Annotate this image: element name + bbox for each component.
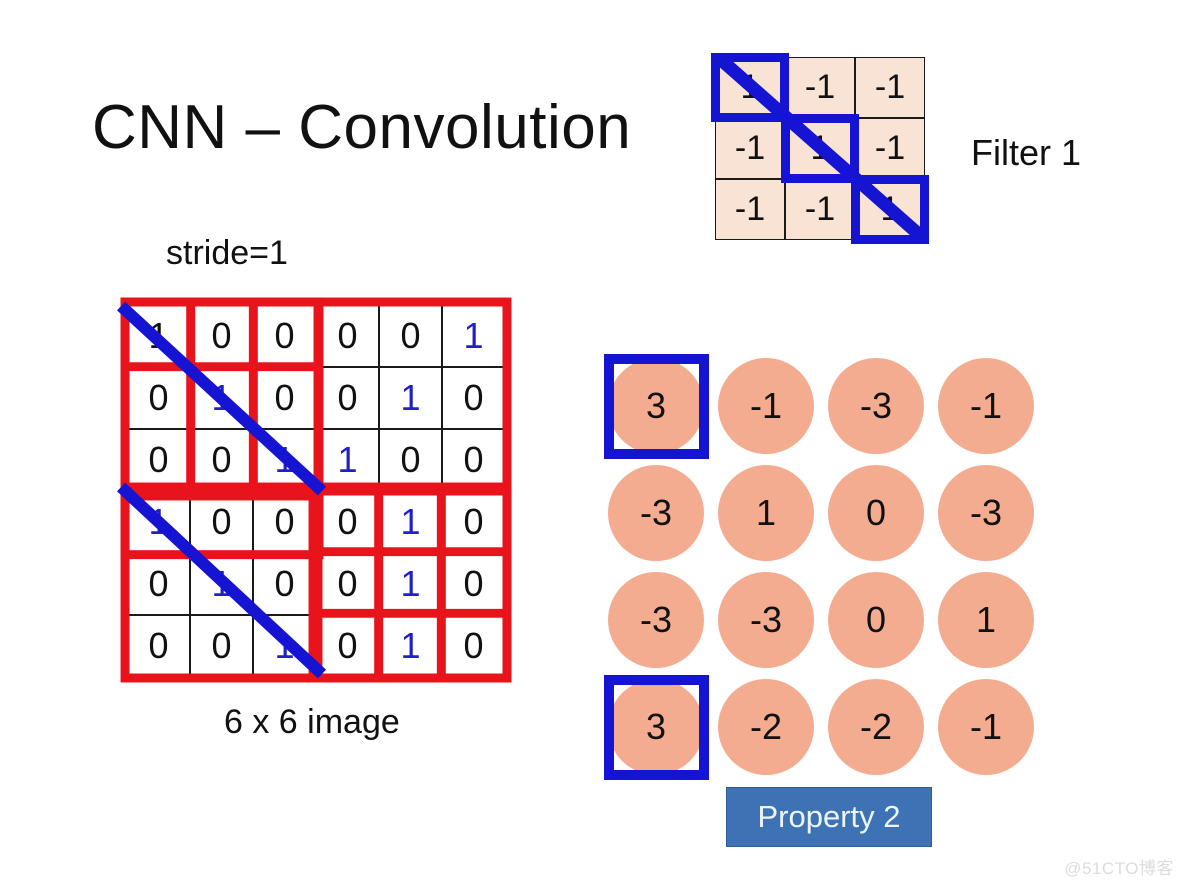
image-cell: 0 (253, 553, 316, 615)
filter-cell: 1 (715, 57, 785, 118)
feature-map-cell: 3 (606, 356, 706, 456)
stride-label: stride=1 (166, 234, 288, 273)
feature-map-cell: -3 (936, 463, 1036, 563)
feature-dot: 1 (718, 465, 814, 561)
image-cell: 0 (190, 429, 253, 491)
feature-map-cell: -1 (716, 356, 816, 456)
image-cell: 1 (253, 429, 316, 491)
image-cell: 1 (253, 615, 316, 677)
image-cell: 1 (379, 491, 442, 553)
feature-dot: -3 (938, 465, 1034, 561)
filter-cell: -1 (855, 57, 925, 118)
filter-cell: -1 (715, 118, 785, 179)
feature-map-cell: 3 (606, 677, 706, 777)
page-title: CNN – Convolution (92, 92, 631, 163)
image-cell: 0 (190, 615, 253, 677)
image-cell: 0 (316, 367, 379, 429)
feature-map-cell: -3 (716, 570, 816, 670)
feature-map-cell: -1 (936, 356, 1036, 456)
image-cell: 1 (316, 429, 379, 491)
image-cell: 1 (127, 491, 190, 553)
image-cell: 0 (253, 305, 316, 367)
image-cell: 0 (127, 429, 190, 491)
feature-map-cell: 1 (936, 570, 1036, 670)
image-cell: 0 (253, 367, 316, 429)
feature-dot: -3 (828, 358, 924, 454)
image-cell: 0 (442, 429, 505, 491)
image-cell: 1 (379, 553, 442, 615)
feature-map: 3 -1 -3 -1 -3 1 0 -3 -3 -3 0 1 3 -2 -2 -… (604, 352, 1046, 778)
image-cell: 0 (316, 491, 379, 553)
watermark: @51CTO博客 (1064, 854, 1174, 879)
image-cell: 0 (316, 553, 379, 615)
image-cell: 0 (190, 491, 253, 553)
image-cell: 1 (190, 367, 253, 429)
property-banner: Property 2 (726, 787, 932, 847)
filter-cell: -1 (715, 179, 785, 240)
filter-label: Filter 1 (971, 132, 1081, 174)
filter-cell: 1 (785, 118, 855, 179)
cnn-convolution-slide: CNN – Convolution stride=1 Filter 1 1 -1… (0, 0, 1184, 888)
feature-dot: -1 (718, 358, 814, 454)
image-cell: 0 (316, 305, 379, 367)
filter-cell: -1 (855, 118, 925, 179)
image-cell: 1 (190, 553, 253, 615)
feature-dot: -3 (608, 572, 704, 668)
feature-dot: 1 (938, 572, 1034, 668)
feature-dot: 0 (828, 465, 924, 561)
feature-map-cell: -3 (606, 463, 706, 563)
image-cell: 0 (190, 305, 253, 367)
image-cell: 1 (127, 305, 190, 367)
image-cell: 0 (442, 615, 505, 677)
feature-dot: -2 (828, 679, 924, 775)
image-cell: 0 (316, 615, 379, 677)
feature-map-cell: -3 (606, 570, 706, 670)
image-cell: 0 (379, 429, 442, 491)
image-cell: 0 (127, 553, 190, 615)
image-cell: 0 (442, 367, 505, 429)
feature-dot: 3 (608, 679, 704, 775)
filter-cell: -1 (785, 179, 855, 240)
feature-map-cell: -2 (716, 677, 816, 777)
feature-dot: -1 (938, 679, 1034, 775)
feature-map-cell: 1 (716, 463, 816, 563)
image-cell: 0 (379, 305, 442, 367)
image-cell: 0 (442, 553, 505, 615)
feature-map-cell: -1 (936, 677, 1036, 777)
image-cell: 0 (253, 491, 316, 553)
image-cell: 0 (442, 491, 505, 553)
feature-dot: -2 (718, 679, 814, 775)
image-caption: 6 x 6 image (224, 703, 400, 742)
feature-map-cell: -3 (826, 356, 926, 456)
feature-map-cell: 0 (826, 463, 926, 563)
feature-map-cell: 0 (826, 570, 926, 670)
filter-cell: 1 (855, 179, 925, 240)
image-cell: 1 (379, 615, 442, 677)
image-cell: 1 (442, 305, 505, 367)
feature-dot: -3 (718, 572, 814, 668)
feature-dot: -3 (608, 465, 704, 561)
property-banner-label: Property 2 (757, 799, 900, 835)
filter-cell: -1 (785, 57, 855, 118)
feature-map-cell: -2 (826, 677, 926, 777)
feature-dot: 3 (608, 358, 704, 454)
image-cell: 0 (127, 367, 190, 429)
filter-matrix: 1 -1 -1 -1 1 -1 -1 -1 1 (715, 57, 925, 240)
image-cell: 1 (379, 367, 442, 429)
image-cell: 0 (127, 615, 190, 677)
feature-dot: 0 (828, 572, 924, 668)
image-matrix: 1 0 0 0 0 1 0 1 0 0 1 0 0 0 1 1 0 0 1 0 … (127, 305, 505, 675)
feature-dot: -1 (938, 358, 1034, 454)
